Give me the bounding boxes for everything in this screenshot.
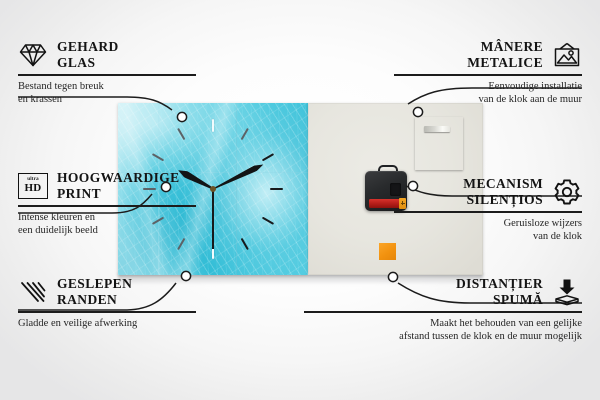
clock-tick-12 bbox=[212, 119, 214, 189]
callout-title: GEHARD GLAS bbox=[57, 39, 119, 70]
callout-body: Maakt het behouden van een gelijke afsta… bbox=[292, 317, 582, 343]
callout-body: Geruisloze wijzers van de klok bbox=[382, 217, 582, 243]
callout-mecanism-silentios: MECANISM SILENȚIOS Geruisloze wijzers va… bbox=[382, 176, 582, 243]
callout-title: DISTANȚIER SPUMĂ bbox=[456, 276, 543, 307]
callout-rule bbox=[18, 74, 196, 76]
callout-title: HOOGWAARDIGE PRINT bbox=[57, 170, 180, 201]
callout-geslepen-randen: GESLEPEN RANDEN Gladde en veilige afwerk… bbox=[18, 276, 208, 330]
callout-header: DISTANȚIER SPUMĂ bbox=[292, 276, 582, 307]
callout-body: Bestand tegen breuk en krassen bbox=[18, 80, 208, 106]
hanger-keyhole-slot bbox=[424, 126, 450, 132]
gear-icon bbox=[552, 177, 582, 207]
infographic-canvas: GEHARD GLAS Bestand tegen breuk en krass… bbox=[0, 0, 600, 400]
diamond-icon bbox=[18, 40, 48, 70]
callout-gehard-glas: GEHARD GLAS Bestand tegen breuk en krass… bbox=[18, 39, 208, 106]
callout-distantier-spuma: DISTANȚIER SPUMĂ Maakt het behouden van … bbox=[292, 276, 582, 343]
ground-edges-icon bbox=[18, 277, 48, 307]
callout-header: GESLEPEN RANDEN bbox=[18, 276, 208, 307]
foam-spacer bbox=[379, 243, 396, 260]
callout-manere-metalice: MÂNERE METALICE Eenvoudige installatie v… bbox=[382, 39, 582, 106]
callout-title: GESLEPEN RANDEN bbox=[57, 276, 132, 307]
metal-hanger-plate bbox=[415, 117, 463, 170]
callout-hoogwaardige-print: ultra HD HOOGWAARDIGE PRINT Intense kleu… bbox=[18, 170, 208, 237]
callout-rule bbox=[18, 205, 196, 207]
clock-second-hand bbox=[212, 189, 214, 249]
clock-tick-3 bbox=[213, 188, 283, 190]
callout-body: Intense kleuren en een duidelijk beeld bbox=[18, 211, 208, 237]
spacer-arrow-icon bbox=[552, 277, 582, 307]
callout-body: Gladde en veilige afwerking bbox=[18, 317, 208, 330]
callout-header: ultra HD HOOGWAARDIGE PRINT bbox=[18, 170, 208, 201]
callout-header: MÂNERE METALICE bbox=[382, 39, 582, 70]
callout-title: MÂNERE METALICE bbox=[467, 39, 543, 70]
callout-rule bbox=[394, 211, 582, 213]
callout-header: GEHARD GLAS bbox=[18, 39, 208, 70]
callout-header: MECANISM SILENȚIOS bbox=[382, 176, 582, 207]
picture-frame-icon bbox=[552, 40, 582, 70]
callout-rule bbox=[18, 311, 196, 313]
clock-hub bbox=[210, 186, 216, 192]
callout-title: MECANISM SILENȚIOS bbox=[463, 176, 543, 207]
callout-rule bbox=[304, 311, 582, 313]
callout-body: Eenvoudige installatie van de klok aan d… bbox=[382, 80, 582, 106]
ultra-hd-icon: ultra HD bbox=[18, 171, 48, 201]
callout-rule bbox=[394, 74, 582, 76]
